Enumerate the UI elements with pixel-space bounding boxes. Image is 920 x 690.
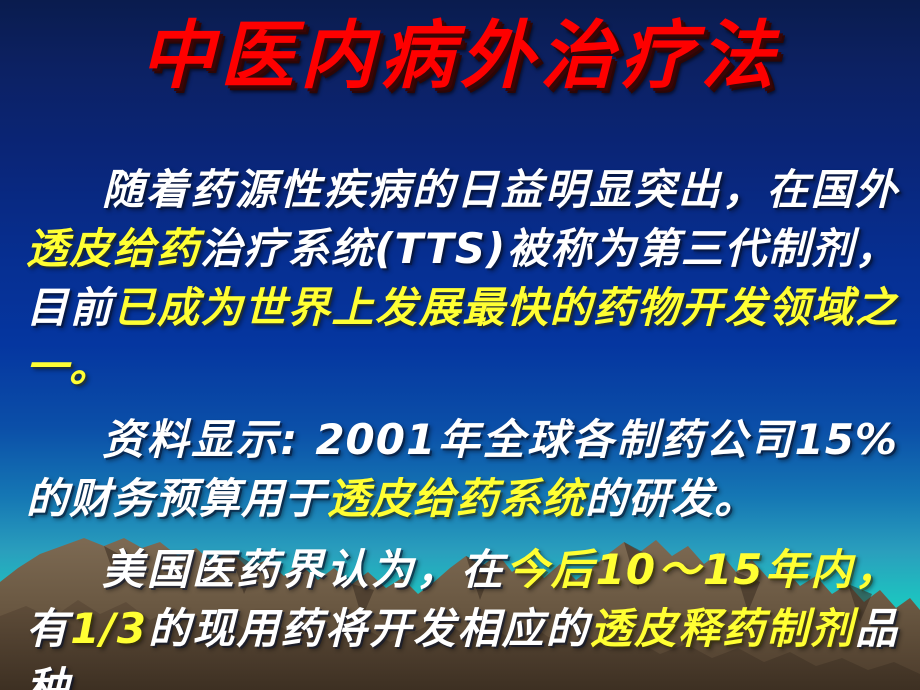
run-text: 随着药源性疾病的日益明显突出，在国外 — [102, 165, 898, 214]
slide-title: 中医内病外治疗法 — [140, 16, 780, 97]
presentation-slide: 中医内病外治疗法 随着药源性疾病的日益明显突出，在国外透皮给药治疗系统(TTS)… — [0, 0, 920, 690]
slide-title-container: 中医内病外治疗法 — [0, 16, 920, 97]
run-highlight: 透皮给药 — [26, 224, 200, 273]
run-text: 的研发。 — [585, 474, 757, 523]
paragraph-1: 随着药源性疾病的日益明显突出，在国外透皮给药治疗系统(TTS)被称为第三代制剂，… — [26, 160, 898, 396]
slide-body: 随着药源性疾病的日益明显突出，在国外透皮给药治疗系统(TTS)被称为第三代制剂，… — [26, 160, 898, 690]
run-highlight-fraction: 1/3 — [70, 604, 147, 653]
run-text: 有 — [26, 604, 70, 653]
run-highlight: 已成为世界上发展最快的药物开发领域之一。 — [26, 283, 898, 391]
run-text: 美国医药界认为，在 — [102, 545, 506, 594]
run-highlight: 透皮给药系统 — [327, 474, 585, 523]
paragraph-2: 资料显示: 2001年全球各制药公司15%的财务预算用于透皮给药系统的研发。 — [26, 410, 898, 528]
run-highlight: 透皮释药制剂 — [590, 604, 855, 653]
paragraph-3: 美国医药界认为，在今后10～15年内，有1/3的现用药将开发相应的透皮释药制剂品… — [26, 540, 898, 690]
run-text: 的现用药将开发相应的 — [147, 604, 590, 653]
run-highlight: 今后10～15年内， — [506, 545, 898, 594]
